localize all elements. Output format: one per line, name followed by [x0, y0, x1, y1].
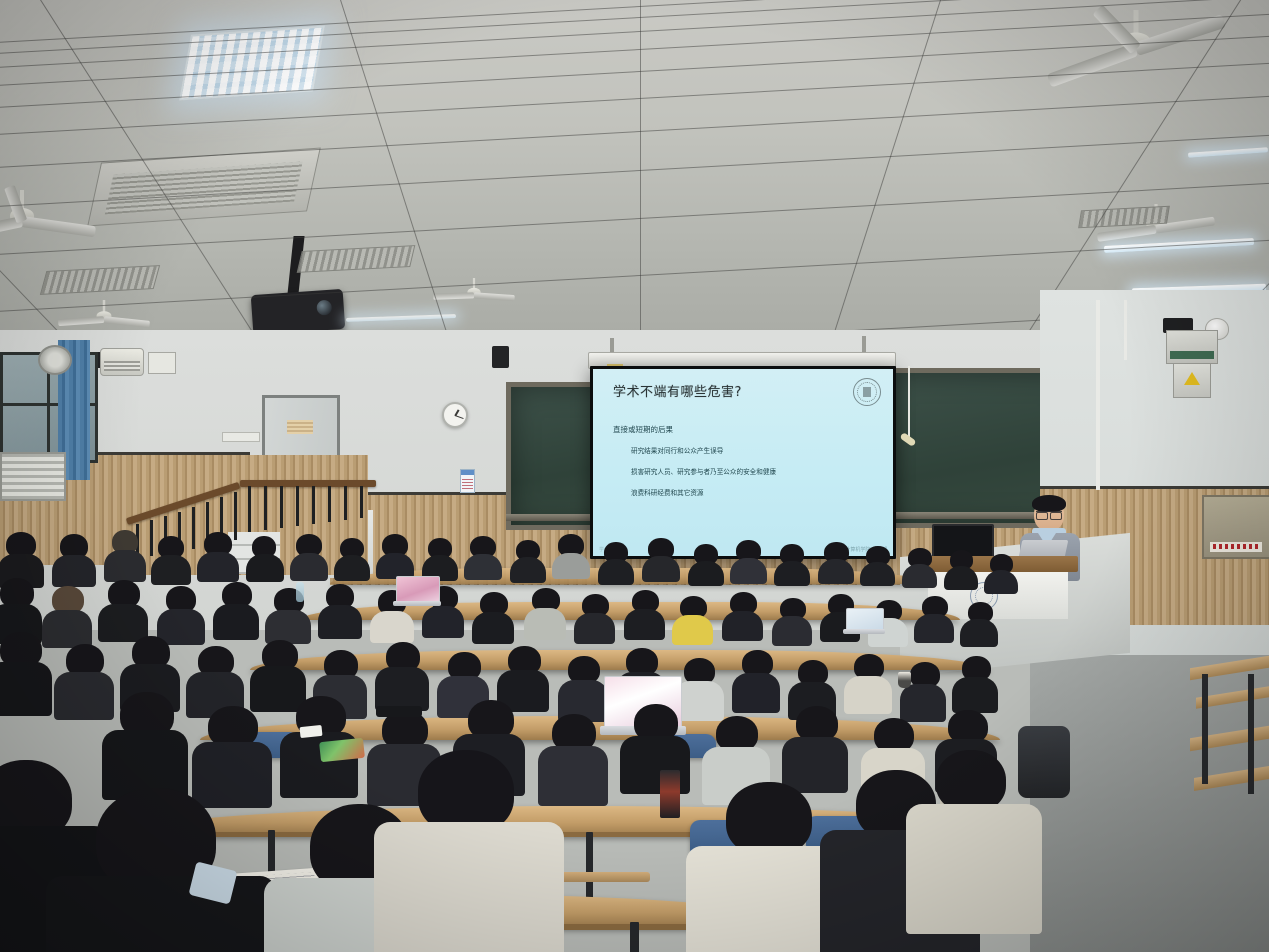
slide-bullet-4: 浪费科研经费和其它资源 [631, 487, 704, 497]
university-seal-icon [853, 378, 881, 406]
water-bottle [296, 582, 304, 602]
air-vent-grille [297, 245, 416, 273]
ceiling-grid-line [640, 0, 641, 352]
presenter-hair [1032, 495, 1066, 512]
screen-pull-cord[interactable] [908, 366, 910, 438]
electrical-panel [1166, 330, 1218, 364]
eyeglasses-icon [1036, 511, 1062, 518]
lecture-hall-photo: 学术不端有哪些危害? 直接或短期的后果 研究结果对同行和公众产生误导 损害研究人… [0, 0, 1269, 952]
drink-can [660, 770, 680, 818]
air-conditioner-unit [100, 348, 144, 376]
wall-speaker [492, 346, 509, 368]
power-bank [299, 725, 322, 738]
light-switch-panel[interactable] [222, 432, 260, 442]
slide-bullet-3: 损害研究人员、研究参与者乃至公众的安全和健康 [631, 466, 776, 476]
slide-bullet-1: 直接或短期的后果 [613, 424, 673, 435]
notice-poster [460, 469, 475, 493]
door-plaque [287, 420, 313, 434]
projector-lens [316, 300, 332, 316]
analog-wall-clock [442, 402, 468, 428]
audience-seating [0, 520, 1269, 952]
fluorescent-tube-light [1188, 147, 1268, 158]
smartphone[interactable] [376, 706, 422, 717]
ceiling-grid-line [790, 0, 1065, 352]
air-vent-grille [40, 265, 160, 295]
fluorescent-tube-light [346, 314, 456, 322]
coffee-cup [898, 672, 911, 688]
backpack [1018, 726, 1070, 798]
wall-conduit [1124, 300, 1127, 360]
high-voltage-warning-box [1173, 363, 1211, 398]
air-return-grille [0, 452, 66, 501]
smartphone-game[interactable] [319, 738, 365, 762]
slide-title: 学术不端有哪些危害? [613, 381, 742, 400]
wall-conduit [1096, 300, 1100, 490]
warning-triangle-icon [1184, 372, 1200, 385]
slide-bullet-2: 研究结果对同行和公众产生误导 [631, 445, 723, 455]
wall-fan [38, 345, 72, 375]
control-box [148, 352, 176, 374]
